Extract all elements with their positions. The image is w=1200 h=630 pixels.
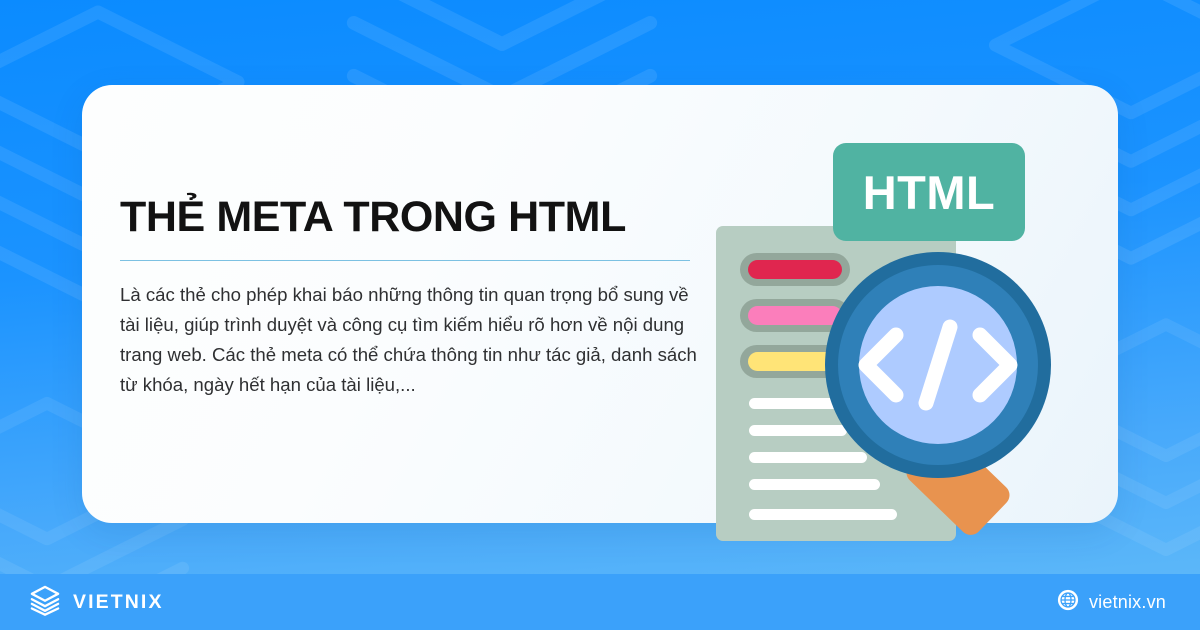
html-badge-label: HTML (863, 169, 996, 216)
page-title: THẺ META TRONG HTML (120, 195, 734, 241)
text-block: THẺ META TRONG HTML Là các thẻ cho phép … (120, 195, 734, 400)
stacked-layers-logo-icon (28, 583, 62, 622)
website-link[interactable]: vietnix.vn (1057, 589, 1166, 616)
magnifying-glass-icon (814, 239, 1104, 539)
page-description: Là các thẻ cho phép khai báo những thông… (120, 280, 698, 400)
globe-icon (1057, 589, 1079, 616)
website-label: vietnix.vn (1089, 592, 1166, 613)
brand-label: VIETNIX (73, 591, 164, 614)
html-meta-illustration: HTML (716, 133, 1106, 513)
html-badge: HTML (833, 143, 1025, 241)
title-divider (120, 260, 690, 261)
poster-canvas: THẺ META TRONG HTML Là các thẻ cho phép … (0, 0, 1200, 630)
footer-bar: VIETNIX vietnix.vn (0, 574, 1200, 630)
content-card: THẺ META TRONG HTML Là các thẻ cho phép … (82, 85, 1118, 523)
brand-logo[interactable]: VIETNIX (28, 583, 164, 622)
